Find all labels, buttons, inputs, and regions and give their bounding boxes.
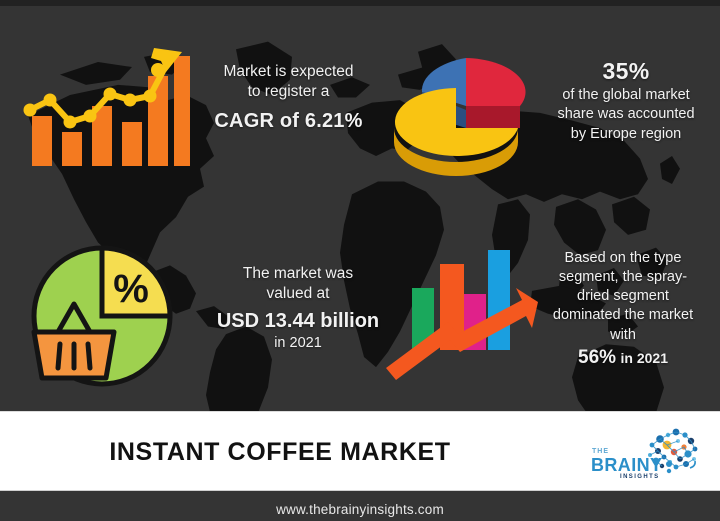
- bar-blue: [488, 250, 510, 350]
- brainy-insights-logo[interactable]: THE BRAINY INSIGHTS: [590, 426, 702, 480]
- logo-prefix: THE: [592, 448, 609, 455]
- stat-spray-year: in 2021: [621, 350, 668, 366]
- bar-chart-arrow-up-icon: [382, 242, 542, 382]
- growth-bar-line-chart-icon: [24, 38, 190, 170]
- stat-cagr-line2: to register a: [186, 82, 391, 102]
- stat-value-line2: valued at: [200, 284, 396, 304]
- stat-value-year: in 2021: [200, 334, 396, 353]
- logo-suffix: INSIGHTS: [620, 474, 660, 480]
- stat-spray-line5: with: [530, 326, 716, 345]
- page-title: INSTANT COFFEE MARKET: [0, 412, 560, 492]
- logo-name: BRAINY: [591, 455, 662, 475]
- basket-pie-percent-icon: %: [22, 240, 182, 392]
- stat-spray-dried-text: Based on the type segment, the spray- dr…: [530, 249, 716, 370]
- growth-chart-bars: [32, 56, 190, 166]
- stat-spray-value: 56%: [578, 347, 616, 368]
- stat-europe-text: 35% of the global market share was accou…: [536, 56, 716, 144]
- stat-europe-line2: share was accounted: [536, 105, 716, 124]
- infographic-canvas: Market is expected to register a CAGR of…: [0, 0, 720, 521]
- stat-cagr-value: CAGR of 6.21%: [186, 108, 391, 134]
- percent-symbol: %: [113, 267, 149, 311]
- stat-value-amount: USD 13.44 billion: [200, 308, 396, 334]
- stat-europe-value: 35%: [536, 56, 716, 86]
- stat-europe-line1: of the global market: [536, 86, 716, 105]
- stat-spray-line2: segment, the spray-: [530, 268, 716, 287]
- stat-cagr-line1: Market is expected: [186, 62, 391, 82]
- stat-europe-line3: by Europe region: [536, 125, 716, 144]
- stat-spray-line4: dominated the market: [530, 306, 716, 325]
- stat-value-line1: The market was: [200, 264, 396, 284]
- stat-spray-line3: dried segment: [530, 287, 716, 306]
- pie-3d-chart-icon: [392, 36, 538, 178]
- stat-market-value-text: The market was valued at USD 13.44 billi…: [200, 264, 396, 353]
- stats-stage: Market is expected to register a CAGR of…: [0, 6, 720, 411]
- stat-spray-value-row: 56% in 2021: [530, 345, 716, 370]
- footer-bar: www.thebrainyinsights.com: [0, 491, 720, 521]
- stat-cagr-text: Market is expected to register a CAGR of…: [186, 62, 391, 134]
- title-band: INSTANT COFFEE MARKET: [0, 411, 720, 491]
- stat-spray-line1: Based on the type: [530, 249, 716, 268]
- footer-website-url[interactable]: www.thebrainyinsights.com: [276, 502, 444, 517]
- pie-slice-red-top: [466, 58, 526, 106]
